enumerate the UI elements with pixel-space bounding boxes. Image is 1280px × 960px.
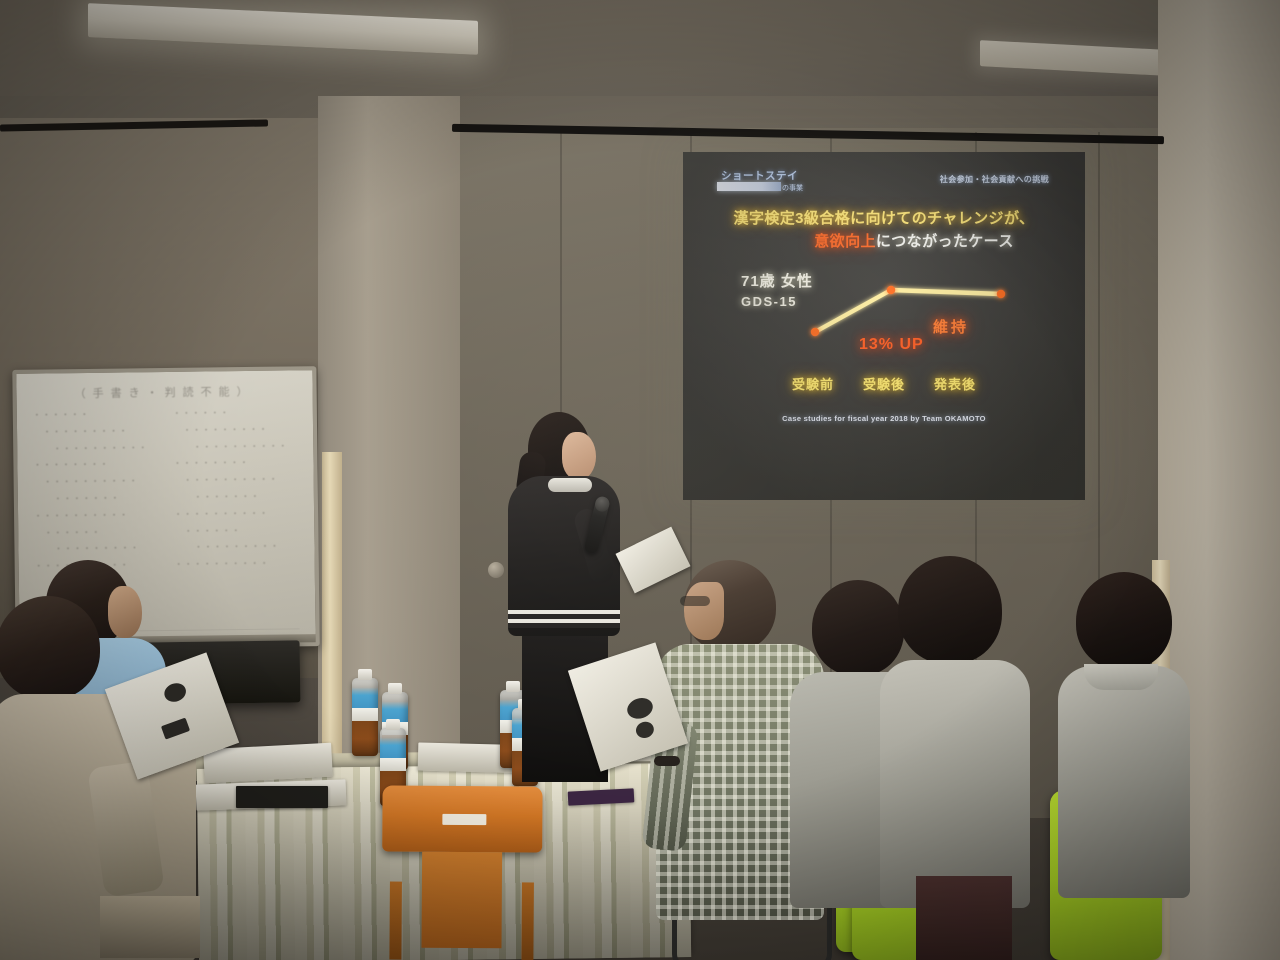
wristwatch-icon [654,756,680,766]
beige-man-head [0,596,100,700]
chart-polyline [815,290,1001,332]
whiteboard-line: ・・・・・・・・・・ [173,438,305,456]
grey-woman-2-lower [916,876,1012,960]
chart-marker-1 [811,328,819,336]
bottle-label [352,708,378,721]
whiteboard-line: ・・・・・・ [33,406,165,424]
whiteboard-title: （手書き・判読不能） [16,382,312,402]
bottle-cap-icon [358,669,372,680]
orange-chair-leg-left [389,881,402,959]
whiteboard-line: ・・・・・・・・ [33,456,165,474]
whiteboard-line: ・・・・・・・・・ [33,423,165,441]
slide-title-line1: 漢字検定3級合格に向けてのチャレンジが、 [734,210,1035,227]
whiteboard-line: ・・・・・・・・・・ [174,505,306,523]
presenter-face [562,432,596,480]
handout-figure-3 [162,680,189,704]
handout-figure-4 [161,718,190,740]
beige-man-lap [100,896,200,958]
audience-woman-grey-3 [1058,572,1190,960]
slide-title-line2: 意欲向上につながったケース [683,231,1085,254]
grey-woman-2-top [880,660,1030,908]
chart-annotation-maintain: 維持 [933,316,969,337]
whiteboard-line: ・・・・・・ [174,522,306,540]
whiteboard-line: ・・・・・・・・・ [34,540,166,558]
slide-footer: Case studies for fiscal year 2018 by Tea… [683,414,1085,423]
whiteboard-line: ・・・・・・・・・ [173,421,305,439]
plaid-man-face [684,582,724,640]
table-papers-1 [203,743,333,784]
table-dark-item [236,786,328,808]
whiteboard-line: ・・・・・・・・・・ [33,440,165,458]
whiteboard-notes-right: ・・・・・・・・・・・・・・・・・・・・・・・・・・・・・・・・・・・・・・・・… [173,404,307,574]
orange-chair-leg-right [521,882,534,960]
bottle-label [380,758,406,771]
slide-title-line2-rest: につながったケース [876,233,1014,250]
grey-woman-3-top [1058,666,1190,898]
whiteboard-line: ・・・・・・・・・・ [174,471,306,489]
bottle-cap-icon [386,719,400,730]
whiteboard-notes-left: ・・・・・・・・・・・・・・・・・・・・・・・・・・・・・・・・・・・・・・・・… [33,406,167,576]
grey-woman-3-hood [1084,664,1158,690]
audience-man-beige [0,596,220,960]
door-knob[interactable] [488,562,504,578]
chart-marker-3 [997,290,1005,298]
whiteboard-line: ・・・・・・・ [174,488,306,506]
handout-figure-2 [634,720,656,741]
chart-x-axis-labels: 受験前受験後発表後 [683,374,1085,393]
x-axis-label-3: 発表後 [934,374,976,393]
slide-header-highlight-bar [717,182,781,191]
grey-woman-3-hair [1076,572,1172,670]
presentation-room-photo: ショートステイ の事業 社会参加・社会貢献への挑戦 漢字検定3級合格に向けてのチ… [0,0,1280,960]
presenter-collar [548,478,592,492]
whiteboard-line: ・・・・・・・・・・ [175,555,307,573]
x-axis-label-1: 受験前 [792,374,834,393]
eyeglasses-icon [680,596,710,606]
x-axis-label-2: 受験後 [863,374,905,393]
slide-title: 漢字検定3級合格に向けてのチャレンジが、 意欲向上につながったケース [683,208,1085,253]
whiteboard-line: ・・・・・・・ [34,490,166,508]
whiteboard-line: ・・・・・・・・・ [174,539,306,557]
whiteboard-line: ・・・・・・・・・・ [34,473,166,491]
orange-chair-seat-number-label [442,814,486,825]
orange-chair-seat [421,852,502,949]
slide-title-highlight: 意欲向上 [814,233,876,250]
whiteboard-line: ・・・・・・ [173,404,305,422]
whiteboard-line: ・・・・・・・・・・ [34,507,166,525]
presenter-hem-stripe [508,610,620,628]
gds15-line-chart [803,270,1013,342]
slide-header-right: 社会参加・社会貢献への挑戦 [940,174,1049,185]
projected-slide: ショートステイ の事業 社会参加・社会貢献への挑戦 漢字検定3級合格に向けてのチ… [683,152,1085,500]
slide-header-left: ショートステイ [721,168,798,183]
slide-header-bar-tail: の事業 [782,183,803,193]
audience-woman-grey-2 [880,556,1030,960]
chart-marker-2 [887,286,895,294]
tea-bottle-1[interactable] [352,678,378,756]
grey-woman-2-hair [898,556,1002,664]
whiteboard-line: ・・・・・・ [34,524,166,542]
whiteboard-line: ・・・・・・・・ [173,455,305,473]
bottle-cap-icon [388,683,402,694]
handout-figure-1 [625,695,656,722]
chart-annotation-increase: 13% UP [859,336,924,354]
